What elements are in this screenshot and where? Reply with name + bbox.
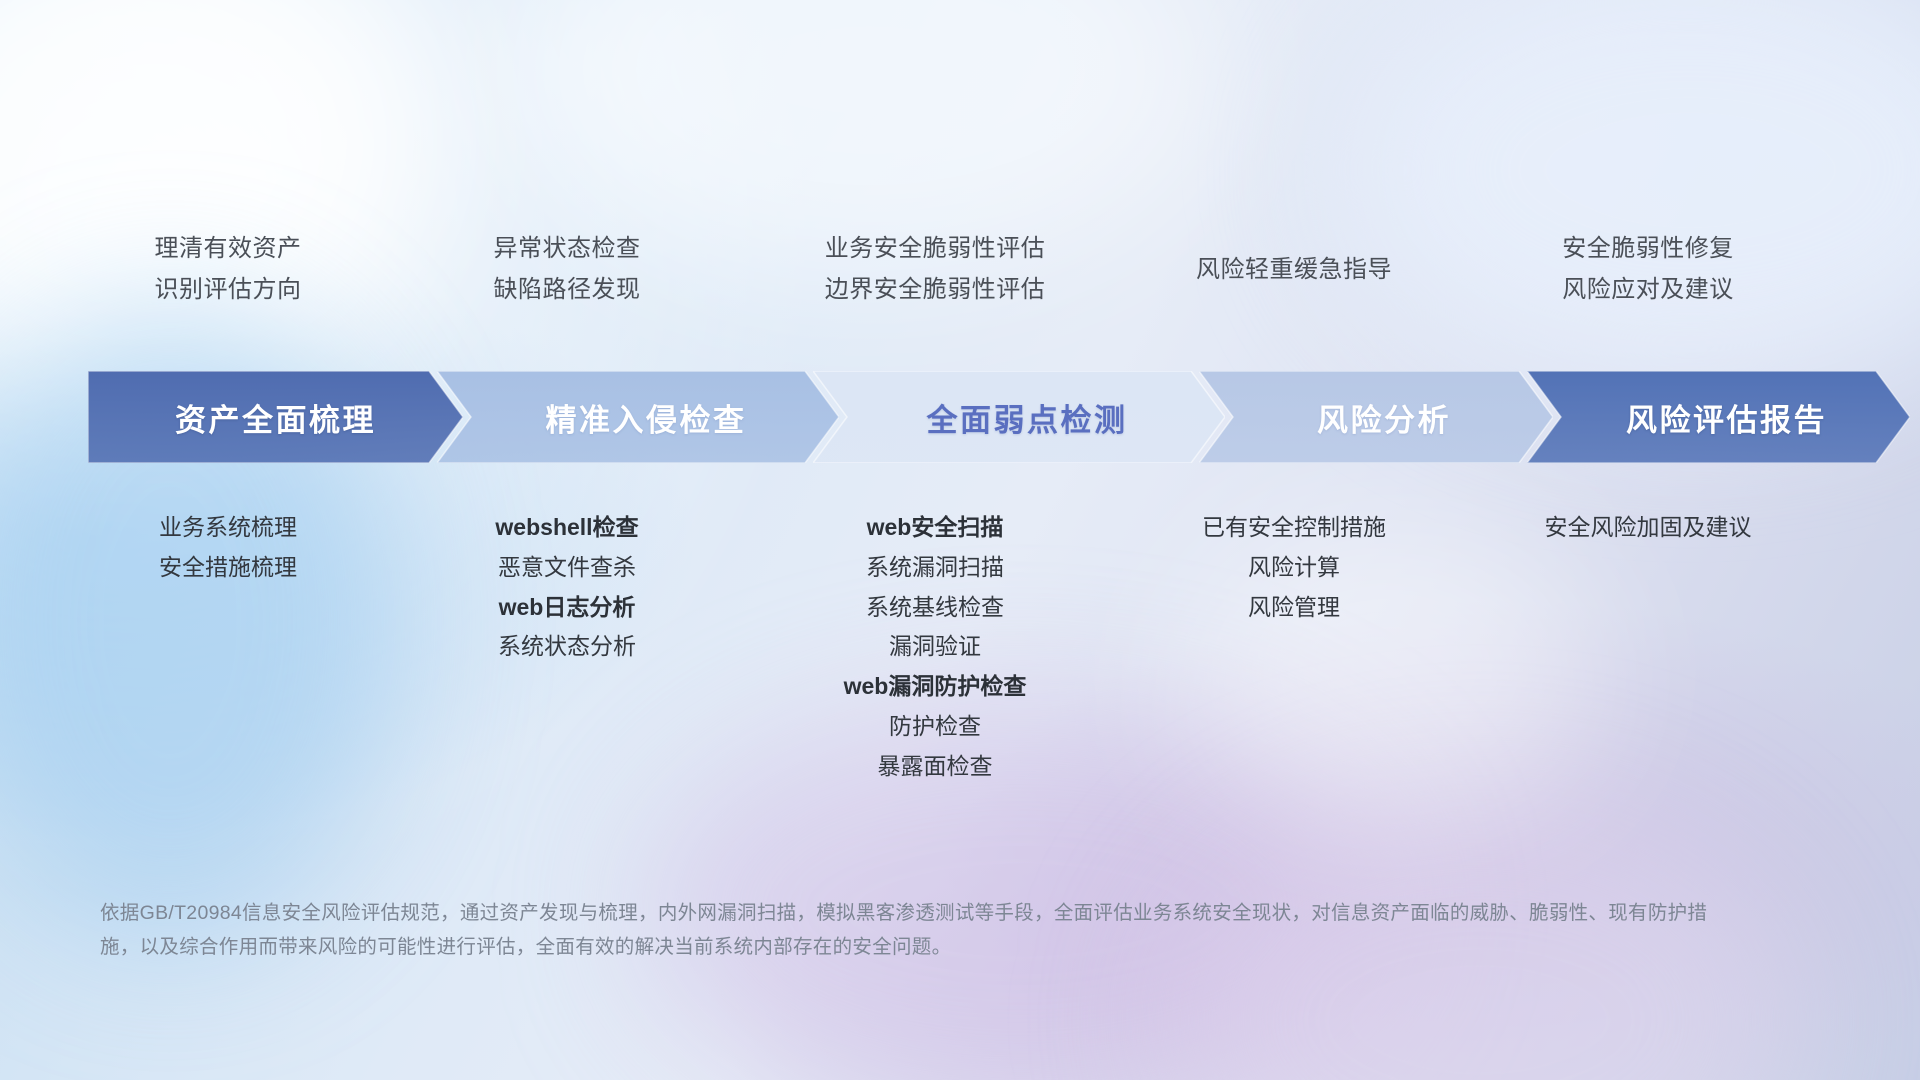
bottom-annotation-line: 系统漏洞扫描	[735, 548, 1135, 588]
bottom-annotation-line: 系统基线检查	[735, 588, 1135, 628]
process-step-report[interactable]: 风险评估报告	[1527, 371, 1910, 463]
top-annotation-intrusion: 异常状态检查缺陷路径发现	[392, 228, 742, 311]
top-annotation-line: 业务安全脆弱性评估	[735, 228, 1135, 269]
process-step-asset[interactable]: 资产全面梳理	[88, 371, 463, 463]
bottom-annotation-line: 业务系统梳理	[58, 508, 398, 548]
bottom-annotation-line: 风险管理	[1114, 588, 1474, 628]
bottom-annotation-line: 风险计算	[1114, 548, 1474, 588]
bottom-annotation-line: webshell检查	[392, 508, 742, 548]
bottom-annotation-asset: 业务系统梳理安全措施梳理	[58, 508, 398, 588]
top-annotation-line: 安全脆弱性修复	[1438, 228, 1858, 269]
bottom-annotation-line: 暴露面检查	[735, 747, 1135, 787]
process-step-intrusion[interactable]: 精准入侵检查	[437, 371, 839, 463]
top-annotation-line: 理清有效资产	[58, 228, 398, 269]
bottom-annotation-line: 恶意文件查杀	[392, 548, 742, 588]
bottom-annotation-report: 安全风险加固及建议	[1438, 508, 1858, 548]
top-annotation-line: 风险轻重缓急指导	[1114, 249, 1474, 290]
process-step-weakness[interactable]: 全面弱点检测	[813, 371, 1225, 463]
footer-description: 依据GB/T20984信息安全风险评估规范，通过资产发现与梳理，内外网漏洞扫描，…	[100, 896, 1720, 965]
bottom-annotation-line: 安全风险加固及建议	[1438, 508, 1858, 548]
process-step-label: 精准入侵检查	[546, 395, 747, 440]
top-annotation-asset: 理清有效资产识别评估方向	[58, 228, 398, 311]
process-step-label: 资产全面梳理	[175, 395, 376, 440]
bottom-annotation-line: 防护检查	[735, 707, 1135, 747]
bottom-annotation-risk-analysis: 已有安全控制措施风险计算风险管理	[1114, 508, 1474, 627]
top-annotation-risk-analysis: 风险轻重缓急指导	[1114, 249, 1474, 290]
top-annotation-weakness: 业务安全脆弱性评估边界安全脆弱性评估	[735, 228, 1135, 311]
bottom-annotation-line: 已有安全控制措施	[1114, 508, 1474, 548]
bottom-annotation-line: 安全措施梳理	[58, 548, 398, 588]
process-step-label: 风险评估报告	[1626, 395, 1827, 440]
top-annotation-line: 异常状态检查	[392, 228, 742, 269]
top-annotation-line: 风险应对及建议	[1438, 269, 1858, 310]
top-annotation-report: 安全脆弱性修复风险应对及建议	[1438, 228, 1858, 311]
bottom-annotation-line: 系统状态分析	[392, 627, 742, 667]
top-annotation-line: 识别评估方向	[58, 269, 398, 310]
process-step-risk-analysis[interactable]: 风险分析	[1199, 371, 1553, 463]
process-chevron-band: 资产全面梳理精准入侵检查全面弱点检测风险分析风险评估报告	[88, 371, 1878, 463]
bottom-annotation-line: web漏洞防护检查	[735, 667, 1135, 707]
bottom-annotation-weakness: web安全扫描系统漏洞扫描系统基线检查漏洞验证web漏洞防护检查防护检查暴露面检…	[735, 508, 1135, 786]
slide-canvas: 理清有效资产识别评估方向异常状态检查缺陷路径发现业务安全脆弱性评估边界安全脆弱性…	[0, 0, 1920, 1080]
bottom-annotation-line: web安全扫描	[735, 508, 1135, 548]
bottom-annotation-intrusion: webshell检查恶意文件查杀web日志分析系统状态分析	[392, 508, 742, 667]
top-annotation-line: 缺陷路径发现	[392, 269, 742, 310]
bottom-annotation-line: web日志分析	[392, 588, 742, 628]
bottom-annotation-line: 漏洞验证	[735, 627, 1135, 667]
top-annotation-line: 边界安全脆弱性评估	[735, 269, 1135, 310]
process-step-label: 风险分析	[1317, 395, 1451, 440]
process-step-label: 全面弱点检测	[927, 395, 1128, 440]
